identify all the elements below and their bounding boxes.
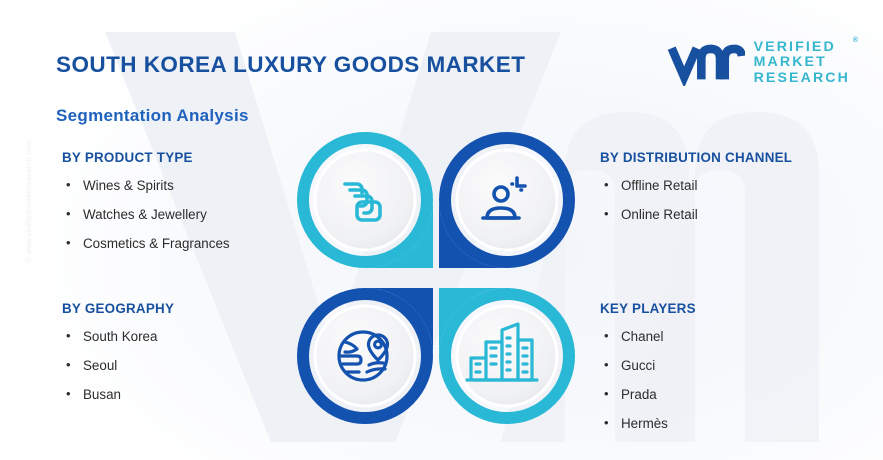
segment-product-type: BY PRODUCT TYPE Wines & Spirits Watches …	[62, 150, 230, 251]
pinwheel-quadrant-geography[interactable]	[303, 288, 433, 418]
list-item: Prada	[600, 387, 696, 402]
infographic-canvas: © www.verifiedmarketresearch.com SOUTH K…	[0, 0, 883, 460]
list-item: Watches & Jewellery	[62, 207, 230, 222]
vm-logomark-icon	[667, 40, 745, 86]
list-item: Offline Retail	[600, 178, 792, 193]
pinwheel-quadrant-product-type[interactable]	[303, 138, 433, 268]
logo-line-research: RESEARCH	[754, 71, 850, 86]
segment-distribution-channel-heading: BY DISTRIBUTION CHANNEL	[600, 150, 792, 165]
logo-line-verified: VERIFIED®	[754, 40, 850, 55]
pinwheel-quadrant-key-players[interactable]	[439, 288, 569, 418]
segment-distribution-channel: BY DISTRIBUTION CHANNEL Offline Retail O…	[600, 150, 792, 222]
segment-pinwheel	[297, 132, 575, 424]
segment-key-players-heading: KEY PLAYERS	[600, 301, 696, 316]
list-item: Gucci	[600, 358, 696, 373]
registered-mark-icon: ®	[853, 37, 858, 45]
segment-geography-heading: BY GEOGRAPHY	[62, 301, 174, 316]
page-title: SOUTH KOREA LUXURY GOODS MARKET	[56, 52, 525, 78]
list-item: Seoul	[62, 358, 174, 373]
segment-key-players-list: Chanel Gucci Prada Hermès	[600, 329, 696, 431]
page-subtitle: Segmentation Analysis	[56, 106, 249, 126]
pinwheel-quadrant-distribution-channel[interactable]	[439, 138, 569, 268]
copyright-watermark: © www.verifiedmarketresearch.com	[24, 102, 33, 262]
list-item: Cosmetics & Fragrances	[62, 236, 230, 251]
vmr-logo[interactable]: VERIFIED® MARKET RESEARCH	[667, 40, 850, 86]
segment-key-players: KEY PLAYERS Chanel Gucci Prada Hermès	[600, 301, 696, 431]
list-item: Wines & Spirits	[62, 178, 230, 193]
logo-wordmark: VERIFIED® MARKET RESEARCH	[754, 40, 850, 86]
list-item: Hermès	[600, 416, 696, 431]
segment-product-type-heading: BY PRODUCT TYPE	[62, 150, 230, 165]
segment-geography-list: South Korea Seoul Busan	[62, 329, 174, 402]
segment-distribution-channel-list: Offline Retail Online Retail	[600, 178, 792, 222]
segment-product-type-list: Wines & Spirits Watches & Jewellery Cosm…	[62, 178, 230, 251]
list-item: South Korea	[62, 329, 174, 344]
list-item: Busan	[62, 387, 174, 402]
list-item: Online Retail	[600, 207, 792, 222]
logo-line-market: MARKET	[754, 55, 850, 70]
list-item: Chanel	[600, 329, 696, 344]
segment-geography: BY GEOGRAPHY South Korea Seoul Busan	[62, 301, 174, 402]
